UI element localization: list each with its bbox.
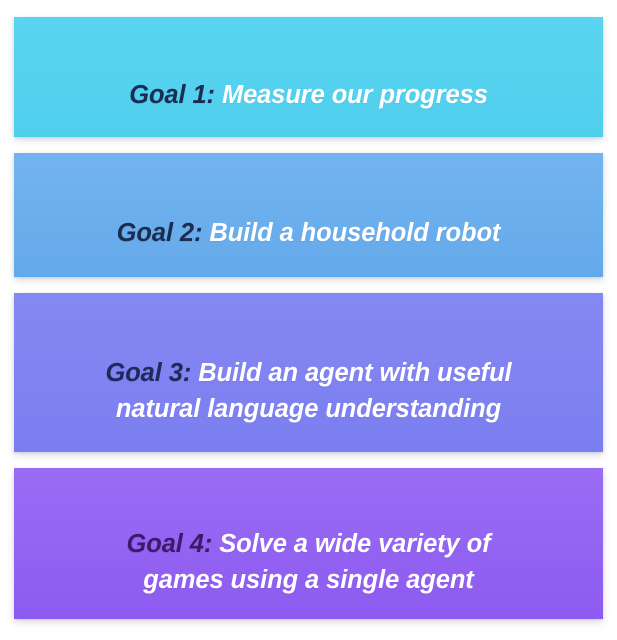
- goal-description-1: Measure our progress: [215, 81, 488, 109]
- goal-banner-1[interactable]: Goal 1: Measure our progress: [14, 17, 603, 137]
- goal-banner-3[interactable]: Goal 3: Build an agent with useful natur…: [14, 293, 603, 452]
- goal-text-1: Goal 1: Measure our progress: [103, 41, 514, 113]
- goal-label-4: Goal 4:: [127, 530, 213, 558]
- goal-text-2: Goal 2: Build a household robot: [91, 179, 527, 251]
- goal-description-2: Build a household robot: [202, 219, 500, 247]
- goals-stack: Goal 1: Measure our progress Goal 2: Bui…: [0, 0, 617, 640]
- goal-label-1: Goal 1:: [129, 81, 215, 109]
- goal-label-3: Goal 3:: [105, 359, 191, 387]
- goal-label-2: Goal 2:: [117, 219, 203, 247]
- goal-text-4: Goal 4: Solve a wide variety of games us…: [101, 490, 517, 598]
- goal-text-3: Goal 3: Build an agent with useful natur…: [79, 319, 537, 427]
- goal-banner-4[interactable]: Goal 4: Solve a wide variety of games us…: [14, 468, 603, 619]
- goal-banner-2[interactable]: Goal 2: Build a household robot: [14, 153, 603, 277]
